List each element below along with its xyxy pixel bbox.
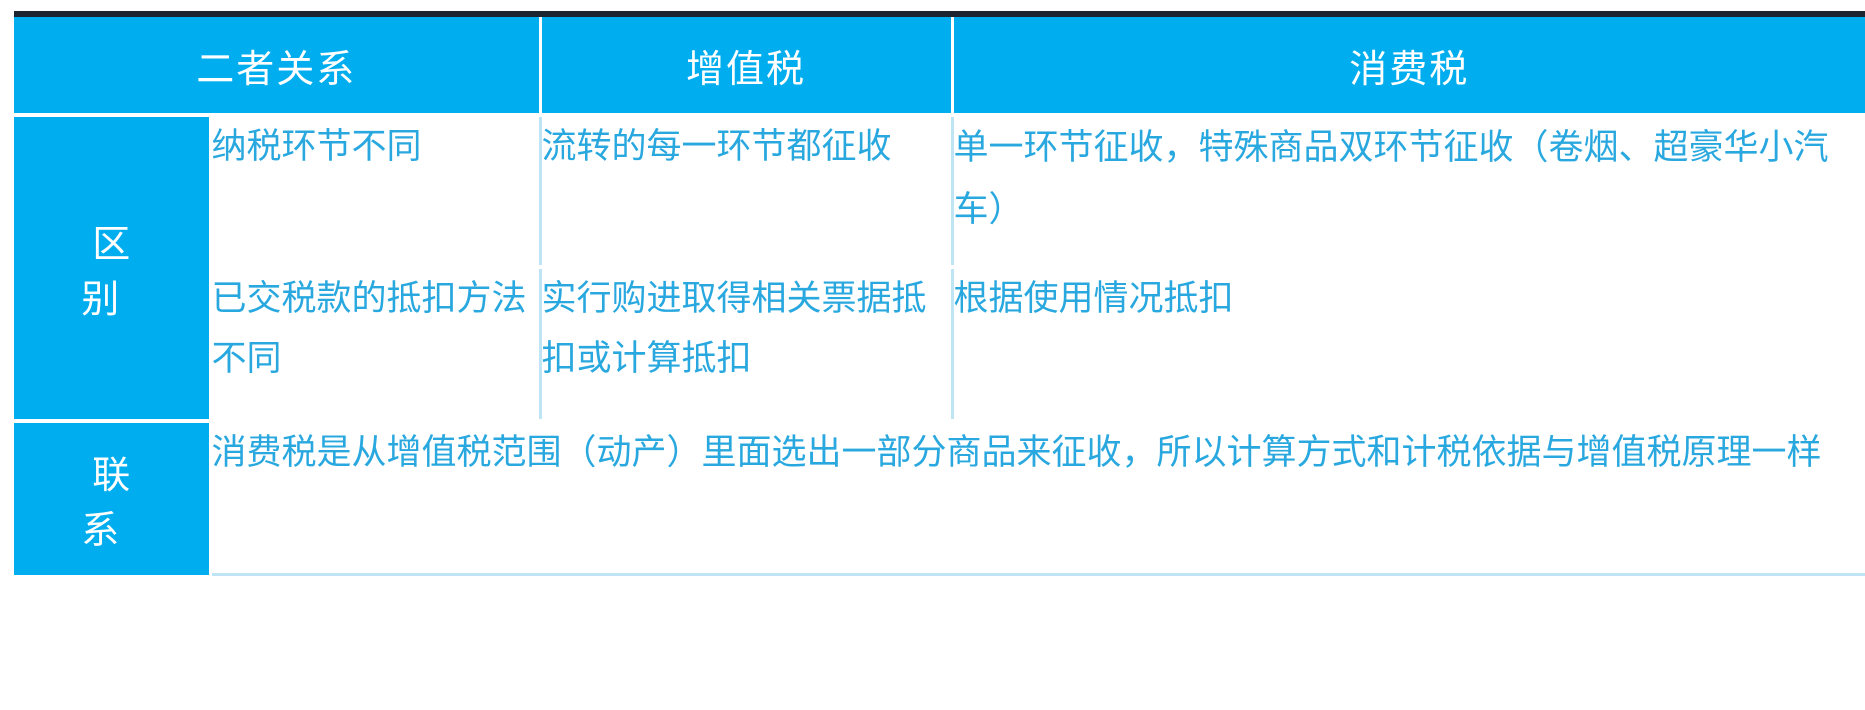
header-cell-relationship: 二者关系 xyxy=(14,17,540,115)
table-row: 区 别 纳税环节不同 流转的每一环节都征收 单一环节征收，特殊商品双环节征收（卷… xyxy=(14,115,1865,267)
table-row: 联 系 消费税是从增值税范围（动产）里面选出一部分商品来征收，所以计算方式和计税… xyxy=(14,421,1865,575)
cell-connection-note: 消费税是从增值税范围（动产）里面选出一部分商品来征收，所以计算方式和计税依据与增… xyxy=(210,421,1865,575)
comparison-table: 二者关系 增值税 消费税 区 别 纳税环节不同 流转的每一环节都征收 单一环节征… xyxy=(14,17,1865,576)
header-cell-vat: 增值税 xyxy=(540,17,952,115)
group-label-difference: 区 别 xyxy=(14,115,210,421)
cell-consumption-tax-deduction-method: 根据使用情况抵扣 xyxy=(952,267,1865,421)
cell-consumption-tax-stage: 单一环节征收，特殊商品双环节征收（卷烟、超豪华小汽车） xyxy=(952,115,1865,267)
cell-vat-tax-stage: 流转的每一环节都征收 xyxy=(540,115,952,267)
cell-vat-deduction-method: 实行购进取得相关票据抵扣或计算抵扣 xyxy=(540,267,952,421)
group-label-connection: 联 系 xyxy=(14,421,210,575)
cell-aspect-deduction-method: 已交税款的抵扣方法不同 xyxy=(210,267,540,421)
cell-aspect-tax-stage: 纳税环节不同 xyxy=(210,115,540,267)
comparison-table-wrapper: 二者关系 增值税 消费税 区 别 纳税环节不同 流转的每一环节都征收 单一环节征… xyxy=(14,17,1865,576)
page-root: 二者关系 增值税 消费税 区 别 纳税环节不同 流转的每一环节都征收 单一环节征… xyxy=(0,0,1865,710)
table-row: 已交税款的抵扣方法不同 实行购进取得相关票据抵扣或计算抵扣 根据使用情况抵扣 xyxy=(14,267,1865,421)
header-cell-consumption-tax: 消费税 xyxy=(952,17,1865,115)
table-header-row: 二者关系 增值税 消费税 xyxy=(14,17,1865,115)
